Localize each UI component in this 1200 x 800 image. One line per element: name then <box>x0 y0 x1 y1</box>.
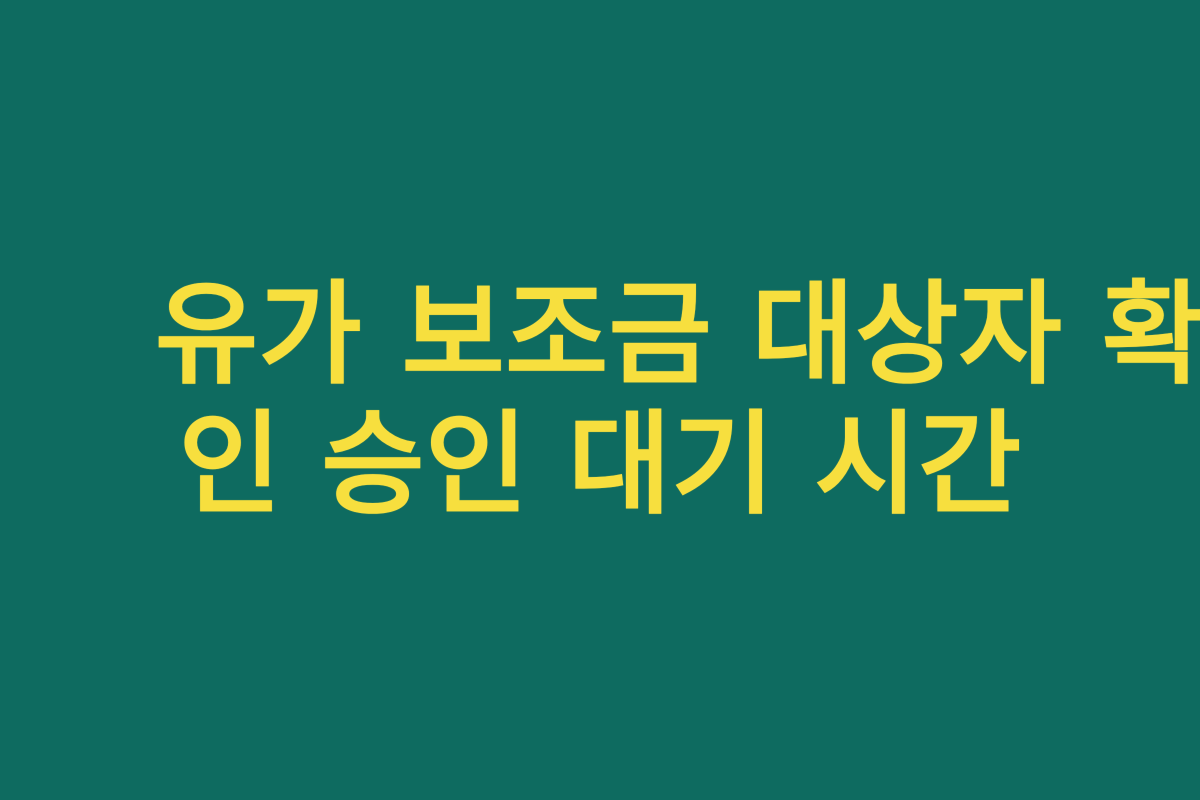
banner-canvas: 유가 보조금 대상자 확 인 승인 대기 시간 <box>0 0 1200 800</box>
headline-line-1: 유가 보조금 대상자 확 <box>155 270 1045 400</box>
banner-headline: 유가 보조금 대상자 확 인 승인 대기 시간 <box>95 270 1105 530</box>
headline-line-2: 인 승인 대기 시간 <box>155 400 1045 530</box>
